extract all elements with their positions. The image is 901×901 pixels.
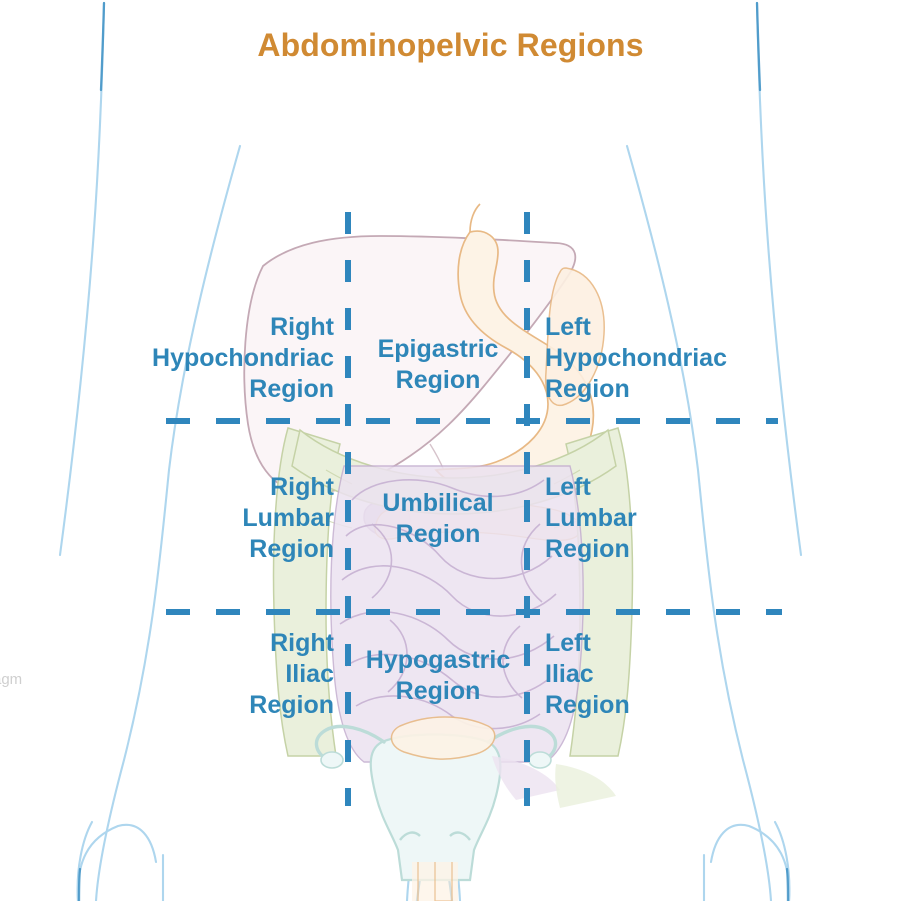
region-label-hypogastric: Hypogastric Region (352, 645, 524, 707)
region-label-epigastric: Epigastric Region (352, 334, 524, 396)
region-label-left-iliac: Left Iliac Region (545, 628, 895, 721)
region-label-umbilical: Umbilical Region (352, 488, 524, 550)
region-label-right-iliac: Right Iliac Region (8, 628, 334, 721)
region-grid (0, 0, 901, 901)
region-label-left-lumbar: Left Lumbar Region (545, 472, 895, 565)
page-title: Abdominopelvic Regions (0, 27, 901, 64)
region-label-right-hypochondriac: Right Hypochondriac Region (8, 312, 334, 405)
region-label-right-lumbar: Right Lumbar Region (8, 472, 334, 565)
diagram-canvas: Abdominopelvic Regions Right Hypochondri… (0, 0, 901, 901)
region-label-left-hypochondriac: Left Hypochondriac Region (545, 312, 895, 405)
clipped-caption: ragm (0, 671, 22, 688)
